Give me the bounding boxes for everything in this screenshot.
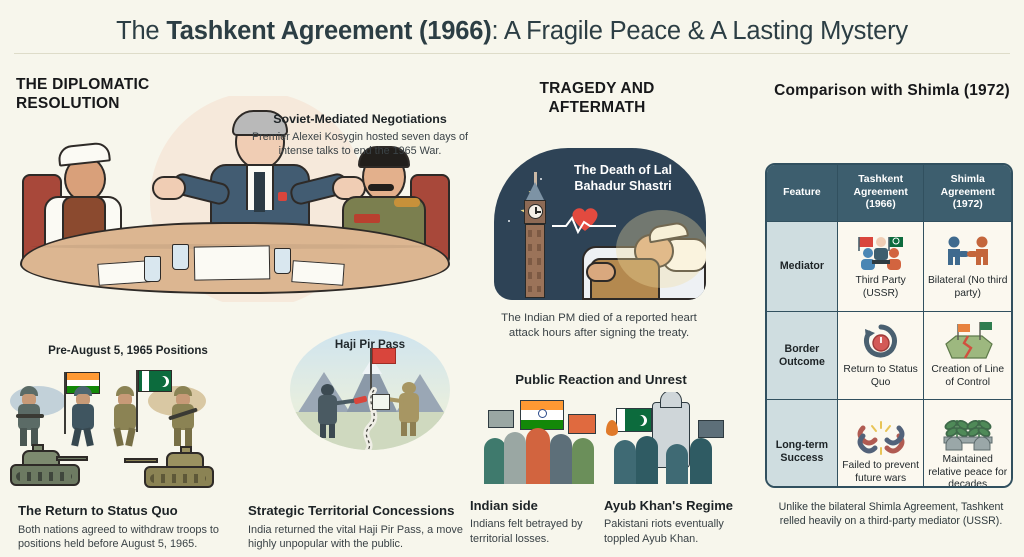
title-bold: Tashkent Agreement (1966) — [166, 17, 491, 45]
ayub-moustache — [368, 184, 394, 191]
territorial-concessions-caption: Strategic Territorial Concessions India … — [248, 503, 464, 551]
indian-side-body: Indians felt betrayed by territorial los… — [470, 517, 602, 546]
section-heading-comparison-shimla: Comparison with Shimla (1972) — [770, 82, 1014, 101]
indian-protest-group — [484, 392, 602, 484]
table-row: Border Outcome Return to Status Quo — [767, 311, 1011, 399]
cell-shimla-mediator-text: Bilateral (No third party) — [927, 275, 1008, 301]
ayub-regime-title: Ayub Khan's Regime — [604, 498, 754, 514]
protester — [550, 434, 572, 484]
kosygin-left-hand — [152, 176, 186, 200]
shastri-death-illustration: The Death of Lal Bahadur Shastri — [494, 148, 706, 300]
header-shimla-line1: Shimla — [951, 174, 985, 187]
status-quo-caption-body: Both nations agreed to withdraw troops t… — [18, 523, 240, 552]
protest-heading: Public Reaction and Unrest — [486, 372, 716, 387]
troops-scene-label: Pre-August 5, 1965 Positions — [8, 344, 248, 358]
broken-chain-icon — [855, 418, 907, 458]
header-feature-label: Feature — [783, 187, 821, 199]
cell-tashkent-longterm: Failed to prevent future wars — [838, 400, 925, 488]
title-suffix: : A Fragile Peace & A Lasting Mystery — [492, 17, 908, 45]
row-feature-mediator: Mediator — [767, 222, 838, 311]
bridge-with-plants-icon — [940, 412, 996, 452]
blank-placard — [698, 420, 724, 438]
handshake-icon — [940, 233, 996, 273]
protester — [614, 440, 636, 484]
haji-pir-circle-scene: Haji Pir Pass — [290, 330, 450, 450]
three-party-flags-icon — [852, 233, 910, 273]
kosygin-tie — [254, 172, 265, 212]
table-row: Mediator — [767, 221, 1011, 311]
ayub-medals — [354, 214, 380, 223]
cell-tashkent-longterm-text: Failed to prevent future wars — [841, 460, 921, 486]
indian-side-caption: Indian side Indians felt betrayed by ter… — [470, 498, 602, 546]
water-glass-3 — [274, 248, 291, 274]
comparison-table-note: Unlike the bilateral Shimla Agreement, T… — [766, 500, 1016, 529]
ayub-epaulette — [394, 198, 420, 207]
ayub-regime-body: Pakistani riots eventually toppled Ayub … — [604, 517, 754, 546]
shastri-gandhi-cap — [57, 141, 111, 166]
cell-tashkent-border-text: Return to Status Quo — [841, 364, 921, 390]
row-feature-longterm-success: Long-term Success — [767, 400, 838, 488]
table-header-feature: Feature — [767, 165, 838, 221]
pakistani-protest-group — [610, 392, 724, 484]
cell-tashkent-mediator-text: Third Party (USSR) — [841, 275, 921, 301]
paper-left — [97, 260, 150, 286]
glow-backdrop — [616, 210, 706, 288]
divided-territory-flags-icon — [940, 322, 996, 362]
protester — [666, 444, 688, 484]
header-shimla-line3: (1972) — [953, 199, 983, 212]
row-feature-border-outcome: Border Outcome — [767, 312, 838, 399]
cell-shimla-border-text: Creation of Line of Control — [927, 364, 1008, 390]
star-dot — [540, 178, 542, 180]
header-tashkent-line2: Agreement — [854, 187, 908, 200]
pakistan-flag-icon — [138, 370, 172, 392]
territorial-concessions-caption-title: Strategic Territorial Concessions — [248, 503, 464, 520]
indian-side-title: Indian side — [470, 498, 602, 514]
shastri-hand — [586, 262, 616, 282]
header-tashkent-line3: (1966) — [866, 199, 896, 212]
header-tashkent-line1: Tashkent — [858, 174, 903, 187]
kosygin-lapel-pin — [278, 192, 287, 201]
negotiation-caption: Soviet-Mediated Negotiations Premier Ale… — [244, 112, 476, 158]
public-reaction-illustration — [484, 392, 724, 484]
title-prefix: The — [116, 17, 166, 45]
monument-dome — [660, 392, 682, 408]
protester — [690, 438, 712, 484]
infographic-page: The Tashkent Agreement (1966): A Fragile… — [0, 0, 1024, 557]
negotiation-caption-title: Soviet-Mediated Negotiations — [244, 112, 476, 128]
cell-shimla-longterm-text: Maintained relative peace for decades — [927, 454, 1008, 488]
paper-right — [291, 260, 344, 286]
death-scene-title: The Death of Lal Bahadur Shastri — [548, 162, 698, 194]
protester — [636, 436, 658, 484]
saffron-placard — [568, 414, 596, 434]
cell-tashkent-border: Return to Status Quo — [838, 312, 925, 399]
death-caption-body: The Indian PM died of a reported heart a… — [486, 311, 712, 341]
water-glass-2 — [172, 244, 189, 270]
fire-icon — [606, 420, 618, 436]
negotiation-caption-body: Premier Alexei Kosygin hosted seven days… — [244, 130, 476, 159]
ecg-line-icon — [552, 214, 616, 234]
page-title: The Tashkent Agreement (1966): A Fragile… — [0, 8, 1024, 54]
table-header-shimla: Shimla Agreement (1972) — [924, 165, 1011, 221]
cell-shimla-mediator: Bilateral (No third party) — [924, 222, 1011, 311]
protester — [504, 432, 526, 484]
protester — [572, 438, 594, 484]
water-glass-1 — [144, 256, 161, 282]
haji-pir-scene-label: Haji Pir Pass — [290, 338, 450, 351]
title-divider — [14, 53, 1010, 54]
territorial-concessions-caption-body: India returned the vital Haji Pir Pass, … — [248, 523, 464, 552]
ayub-regime-caption: Ayub Khan's Regime Pakistani riots event… — [604, 498, 754, 546]
cell-shimla-border: Creation of Line of Control — [924, 312, 1011, 399]
table-header-row: Feature Tashkent Agreement (1966) Shimla… — [767, 165, 1011, 221]
status-quo-caption: The Return to Status Quo Both nations ag… — [18, 503, 240, 551]
blank-placard — [488, 410, 514, 428]
protester — [526, 428, 550, 484]
table-row: Long-term Success — [767, 399, 1011, 488]
section-heading-tragedy-aftermath: TRAGEDY AND AFTERMATH — [492, 80, 702, 118]
treaty-document — [194, 245, 271, 280]
table-header-tashkent: Tashkent Agreement (1966) — [838, 165, 925, 221]
haji-pir-pass-illustration: Haji Pir Pass — [290, 330, 450, 450]
ashoka-chakra-icon — [538, 409, 547, 418]
comparison-table: Feature Tashkent Agreement (1966) Shimla… — [765, 163, 1013, 488]
protester — [484, 438, 506, 484]
pakistan-flag-protest-icon — [616, 408, 652, 432]
rewind-clock-icon — [859, 322, 903, 362]
troop-withdrawal-illustration: Pre-August 5, 1965 Positions — [8, 338, 248, 498]
header-shimla-line2: Agreement — [941, 187, 995, 200]
status-quo-caption-title: The Return to Status Quo — [18, 503, 240, 520]
negotiation-illustration: Soviet-Mediated Negotiations Premier Ale… — [6, 96, 476, 302]
star-dot — [508, 220, 510, 222]
cell-shimla-longterm: Maintained relative peace for decades — [924, 400, 1011, 488]
cell-tashkent-mediator: Third Party (USSR) — [838, 222, 925, 311]
